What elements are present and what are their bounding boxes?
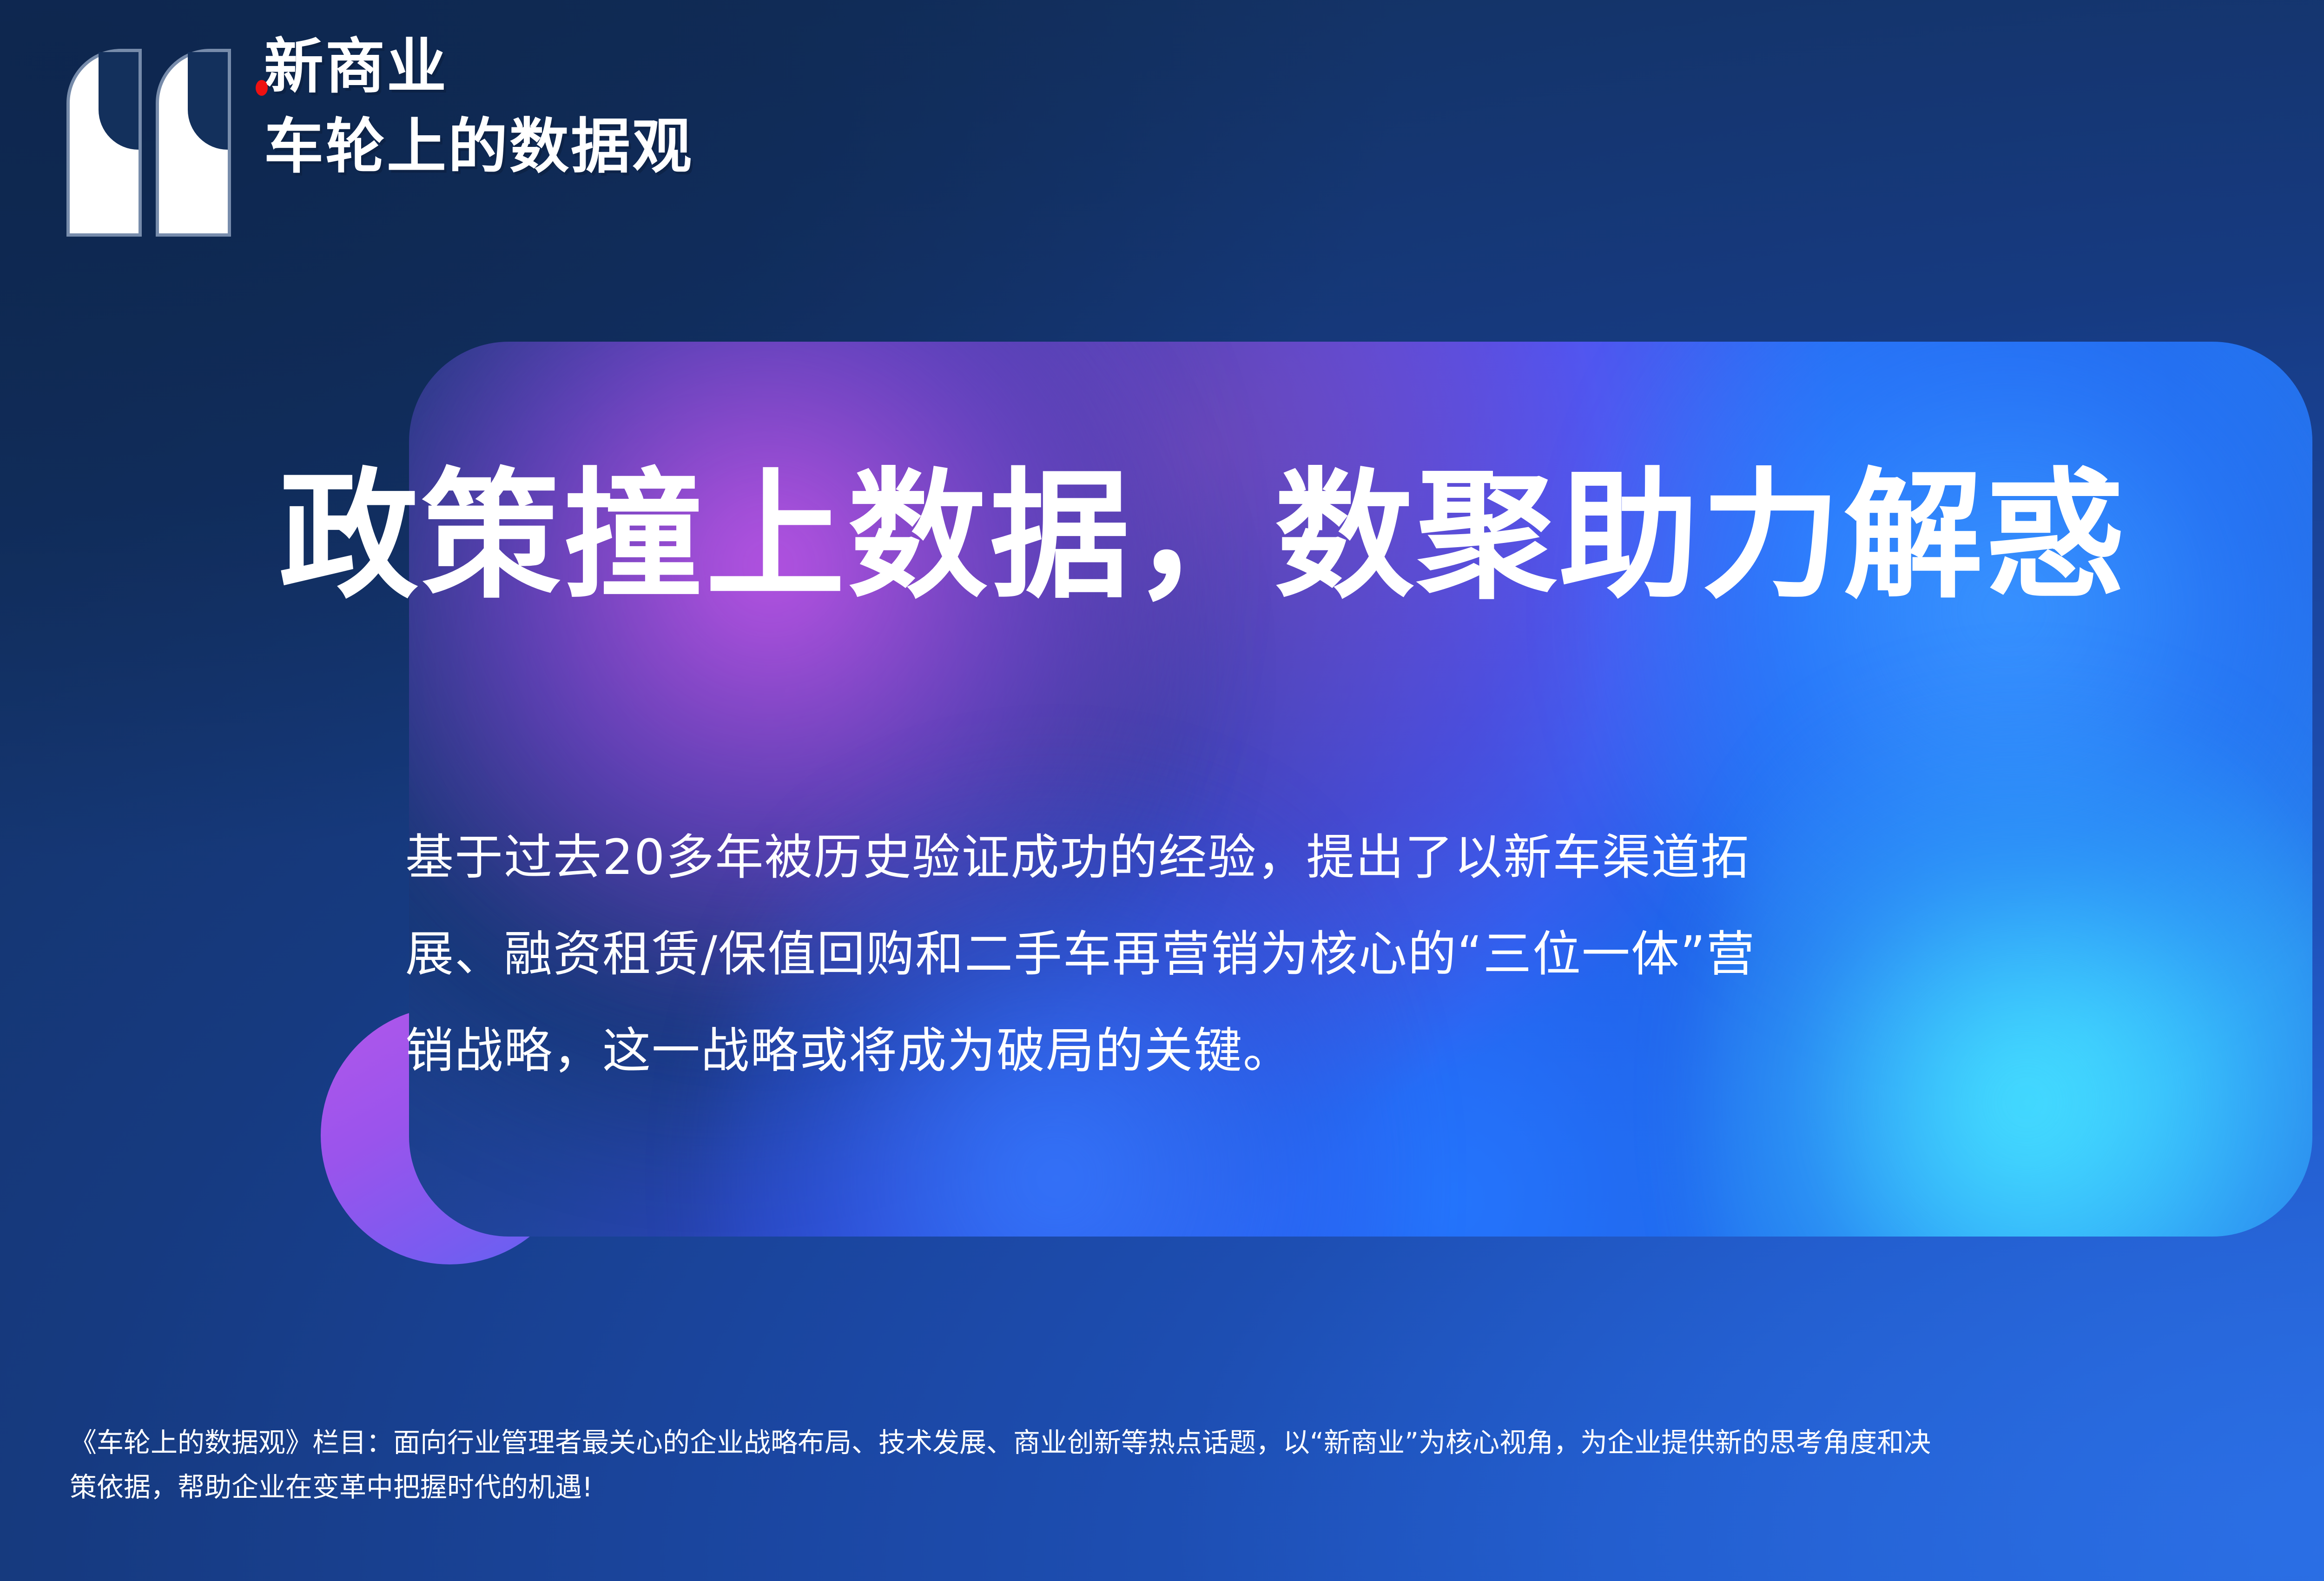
card-body-copy: 基于过去20多年被历史验证成功的经验，提出了以新车渠道拓 展、融资租赁/保值回购… [405, 809, 2324, 1099]
page-headline: 政策撞上数据，数聚助力解惑 [279, 456, 2324, 617]
footer-description: 《车轮上的数据观》栏目：面向行业管理者最关心的企业战略布局、技术发展、商业创新等… [70, 1420, 2324, 1509]
quote-bar-left [70, 52, 139, 233]
brand-title-block: 新商业 车轮上的数据观 [264, 28, 693, 183]
footer-line: 策依据，帮助企业在变革中把握时代的机遇! [70, 1465, 2324, 1509]
body-line: 销战略，这一战略或将成为破局的关键。 [405, 1002, 2324, 1099]
open-quote-icon [70, 52, 228, 233]
brand-header: 新商业 车轮上的数据观 [70, 28, 693, 233]
brand-name: 新商业 [264, 31, 693, 103]
body-line: 基于过去20多年被历史验证成功的经验，提出了以新车渠道拓 [405, 809, 2324, 906]
footer-line: 《车轮上的数据观》栏目：面向行业管理者最关心的企业战略布局、技术发展、商业创新等… [70, 1420, 2324, 1465]
brand-subtitle: 车轮上的数据观 [264, 111, 693, 183]
body-line: 展、融资租赁/保值回购和二手车再营销为核心的“三位一体”营 [405, 906, 2324, 1002]
brand-red-dot-icon [256, 80, 268, 96]
quote-bar-right [159, 52, 228, 233]
